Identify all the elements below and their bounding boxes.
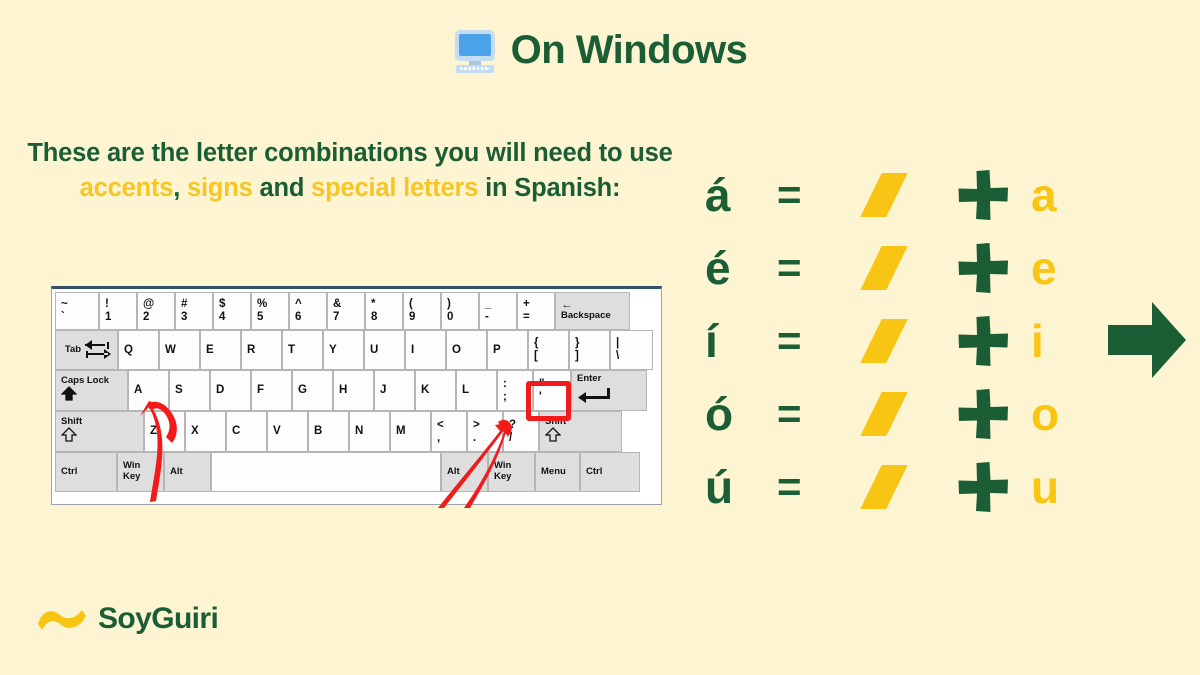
key-top-label: _ [485, 298, 516, 311]
key-top-label: } [575, 337, 609, 350]
plain-vowel: e [1027, 245, 1065, 291]
key-top-label: < [437, 419, 466, 432]
apostrophe-key-icon [829, 465, 939, 509]
key-bottom-label: , [437, 432, 466, 445]
key-label: C [232, 425, 266, 438]
key-label: J [380, 384, 414, 397]
plain-vowel: u [1027, 464, 1065, 510]
key-f: F [251, 370, 292, 411]
key-label: M [396, 425, 430, 438]
key--: _- [479, 292, 517, 330]
accented-vowel: ó [705, 391, 777, 437]
key-label: Key [494, 472, 534, 483]
key-label: Tab [65, 345, 81, 356]
key-bottom-label: 5 [257, 311, 288, 324]
highlight-accents: accents [80, 174, 174, 202]
key-bottom-label: 0 [447, 311, 478, 324]
key-label: F [257, 384, 291, 397]
key-label: Menu [541, 467, 579, 478]
key-g: G [292, 370, 333, 411]
key-bottom-label: \ [616, 350, 652, 363]
key-top-label: * [371, 298, 402, 311]
key-top-label: > [473, 419, 502, 432]
logo-text: SoyGuiri [98, 602, 218, 636]
key-bottom-label: = [523, 311, 554, 324]
key-`: ~` [55, 292, 99, 330]
equals-sign: = [777, 393, 829, 435]
key-space [211, 452, 441, 492]
key-shift: Shift [539, 411, 622, 452]
page-header: On Windows [0, 28, 1200, 73]
key-label: R [247, 344, 281, 357]
page-title: On Windows [511, 28, 748, 73]
key-label: Shift [61, 417, 143, 428]
equals-sign: = [777, 174, 829, 216]
key-label: V [273, 425, 307, 438]
equals-sign: = [777, 320, 829, 362]
key-label: D [216, 384, 250, 397]
soyguiri-logo[interactable]: SoyGuiri [36, 602, 218, 636]
wave-mark-icon [36, 604, 88, 634]
key-label: Enter [577, 374, 601, 385]
key-label: Ctrl [586, 467, 639, 478]
key-l: L [456, 370, 497, 411]
key-top-label: # [181, 298, 212, 311]
key-label: Caps Lock [61, 376, 127, 387]
accent-combination-list: á=aé=eí=ió=oú=u [705, 158, 1065, 523]
key-label: W [165, 344, 199, 357]
key-k: K [415, 370, 456, 411]
key-label: A [134, 384, 168, 397]
key-label: O [452, 344, 486, 357]
key-n: N [349, 411, 390, 452]
key-y: Y [323, 330, 364, 370]
key-5: %5 [251, 292, 289, 330]
equals-sign: = [777, 247, 829, 289]
equals-sign: = [777, 466, 829, 508]
intro-line-2-prefix: need to use [533, 139, 673, 167]
key-label: G [298, 384, 332, 397]
key-Backspace: ←Backspace [555, 292, 630, 330]
key-label: N [355, 425, 389, 438]
key-d: D [210, 370, 251, 411]
key-c: C [226, 411, 267, 452]
key-label: Shift [545, 417, 621, 428]
key-top-label: : [503, 378, 532, 391]
key-label: T [288, 344, 322, 357]
key-win: WinKey [117, 452, 164, 492]
key-=: += [517, 292, 555, 330]
key-label: Alt [447, 467, 487, 478]
key-top-label: & [333, 298, 364, 311]
key-top-label: ) [447, 298, 478, 311]
key-bottom-label: 1 [105, 311, 136, 324]
key-label: Z [150, 425, 184, 438]
key-label: I [411, 344, 445, 357]
key-top-label: @ [143, 298, 174, 311]
key-z: Z [144, 411, 185, 452]
tab-arrows-icon [83, 337, 113, 363]
key-[: {[ [528, 330, 569, 370]
key-bottom-label: ` [61, 311, 98, 324]
key-.: >. [467, 411, 503, 452]
key-label: Alt [170, 467, 210, 478]
key-bottom-label: ; [503, 391, 532, 404]
keyboard-row-home: Caps LockASDFGHJKL:;"'Enter [55, 370, 658, 411]
key-top-label: ^ [295, 298, 326, 311]
highlight-special-letters: special letters [311, 174, 478, 202]
key-top-label: { [534, 337, 568, 350]
plus-icon [939, 168, 1027, 222]
apostrophe-key-icon [829, 173, 939, 217]
key-/: ?/ [503, 411, 539, 452]
keyboard-row-qwerty: TabQWERTYUIOP{[}]|\ [55, 330, 658, 370]
key-b: B [308, 411, 349, 452]
key-label: P [493, 344, 527, 357]
key-s: S [169, 370, 210, 411]
key-p: P [487, 330, 528, 370]
key-top-label: % [257, 298, 288, 311]
intro-sep-2: and [253, 174, 312, 202]
key-bottom-label: 3 [181, 311, 212, 324]
key-bottom-label: 6 [295, 311, 326, 324]
key-enter: Enter [571, 370, 647, 411]
shift-arrow-icon [61, 427, 143, 446]
key-]: }] [569, 330, 610, 370]
key-q: Q [118, 330, 159, 370]
key-h: H [333, 370, 374, 411]
key-alt: Alt [441, 452, 488, 492]
key-bottom-label: 4 [219, 311, 250, 324]
key-a: A [128, 370, 169, 411]
key-label: Q [124, 344, 158, 357]
key-e: E [200, 330, 241, 370]
key-bottom-label: Backspace [561, 311, 629, 322]
key-w: W [159, 330, 200, 370]
key-t: T [282, 330, 323, 370]
key-bottom-label: ] [575, 350, 609, 363]
key-o: O [446, 330, 487, 370]
key-v: V [267, 411, 308, 452]
key-bottom-label: - [485, 311, 516, 324]
key-4: $4 [213, 292, 251, 330]
intro-paragraph: These are the letter combinations you wi… [18, 136, 682, 207]
key-;: :; [497, 370, 533, 411]
apostrophe-key-icon [829, 246, 939, 290]
key-r: R [241, 330, 282, 370]
key-top-label: $ [219, 298, 250, 311]
accent-combination-row: í=i [705, 304, 1065, 377]
key-x: X [185, 411, 226, 452]
accent-combination-row: é=e [705, 231, 1065, 304]
key-top-label: + [523, 298, 554, 311]
key-label: Key [123, 472, 163, 483]
accent-combination-row: ú=u [705, 450, 1065, 523]
plus-icon [939, 387, 1027, 441]
accent-combination-row: á=a [705, 158, 1065, 231]
plain-vowel: i [1027, 318, 1065, 364]
key-label: Ctrl [61, 467, 116, 478]
key-m: M [390, 411, 431, 452]
apostrophe-key-icon [829, 319, 939, 363]
key-u: U [364, 330, 405, 370]
key-tab: Tab [55, 330, 118, 370]
key-top-label: ? [509, 419, 538, 432]
intro-sep-1: , [173, 174, 187, 202]
keyboard-row-zxcv: ShiftZXCVBNM<,>.?/Shift [55, 411, 658, 452]
plus-icon [939, 314, 1027, 368]
desktop-computer-icon [453, 29, 497, 73]
key-label: B [314, 425, 348, 438]
key-label: S [175, 384, 209, 397]
caps-lock-arrow-icon [61, 386, 127, 405]
key-label: L [462, 384, 496, 397]
key-top-label: ( [409, 298, 440, 311]
accented-vowel: ú [705, 464, 777, 510]
shift-arrow-icon [545, 427, 621, 446]
key-bottom-label: 2 [143, 311, 174, 324]
key-': "' [533, 370, 571, 411]
key-bottom-label: 8 [371, 311, 402, 324]
key-label: X [191, 425, 225, 438]
key-j: J [374, 370, 415, 411]
key-top-label: " [539, 378, 570, 391]
plain-vowel: a [1027, 172, 1065, 218]
key-bottom-label: 7 [333, 311, 364, 324]
key-7: &7 [327, 292, 365, 330]
key-shift: Shift [55, 411, 144, 452]
keyboard-row-bottom: CtrlWinKeyAltAltWinKeyMenuCtrl [55, 452, 658, 492]
key-alt: Alt [164, 452, 211, 492]
windows-keyboard-diagram: ~`!1@2#3$4%5^6&7*8(9)0_-+=←Backspace Tab… [51, 286, 662, 505]
plain-vowel: o [1027, 391, 1065, 437]
key-label: K [421, 384, 455, 397]
key-1: !1 [99, 292, 137, 330]
key-9: (9 [403, 292, 441, 330]
key-bottom-label: / [509, 432, 538, 445]
key-i: I [405, 330, 446, 370]
key-label: E [206, 344, 240, 357]
key-6: ^6 [289, 292, 327, 330]
key-top-label: ~ [61, 298, 98, 311]
arrow-right-icon[interactable] [1108, 300, 1186, 380]
intro-line-1: These are the letter combinations you wi… [27, 139, 526, 167]
key-top-label: | [616, 337, 652, 350]
enter-arrow-icon [577, 387, 611, 407]
key-bottom-label: ' [539, 391, 570, 404]
key-0: )0 [441, 292, 479, 330]
plus-icon [939, 460, 1027, 514]
key-bottom-label: [ [534, 350, 568, 363]
key-win: WinKey [488, 452, 535, 492]
highlight-signs: signs [187, 174, 253, 202]
key-2: @2 [137, 292, 175, 330]
key-\: |\ [610, 330, 653, 370]
plus-icon [939, 241, 1027, 295]
intro-line-3: in Spanish: [485, 174, 620, 202]
keyboard-row-numbers: ~`!1@2#3$4%5^6&7*8(9)0_-+=←Backspace [55, 292, 658, 330]
apostrophe-key-icon [829, 392, 939, 436]
key-8: *8 [365, 292, 403, 330]
key-menu: Menu [535, 452, 580, 492]
key-label: U [370, 344, 404, 357]
key-3: #3 [175, 292, 213, 330]
accented-vowel: á [705, 172, 777, 218]
accented-vowel: í [705, 318, 777, 364]
key-top-label: ! [105, 298, 136, 311]
key-label: H [339, 384, 373, 397]
key-,: <, [431, 411, 467, 452]
accented-vowel: é [705, 245, 777, 291]
key-label: Y [329, 344, 363, 357]
accent-combination-row: ó=o [705, 377, 1065, 450]
key-bottom-label: . [473, 432, 502, 445]
key-ctrl: Ctrl [580, 452, 640, 492]
key-caps-lock: Caps Lock [55, 370, 128, 411]
key-bottom-label: 9 [409, 311, 440, 324]
key-ctrl: Ctrl [55, 452, 117, 492]
